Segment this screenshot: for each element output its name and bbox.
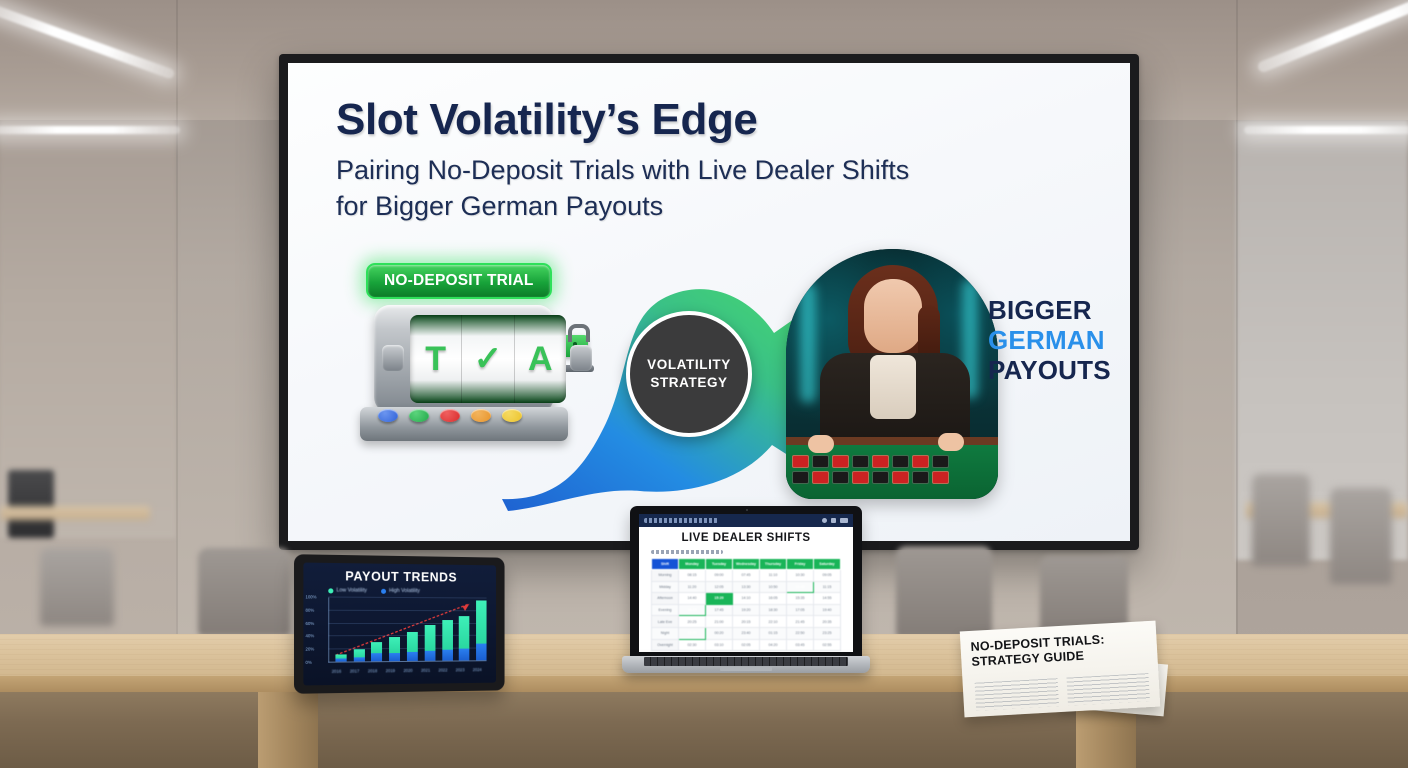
chart-legend: Low Volatility High Volatility — [328, 587, 420, 594]
background-chair — [40, 548, 114, 626]
subtitle-line-2: for Bigger German Payouts — [336, 189, 1106, 225]
felt-cell — [832, 455, 849, 468]
table-header-row: ShiftMondayTuesdayWednesdayThursdayFrida… — [652, 559, 841, 570]
legend-item: High Volatility — [381, 588, 420, 594]
bar-segment-low — [459, 649, 470, 660]
table-row[interactable]: Evening18:1017:4519:2018:3017:0519:40 — [652, 604, 841, 616]
bar-segment-high — [442, 620, 453, 650]
bar — [425, 625, 436, 661]
felt-cell — [792, 455, 809, 468]
bar-segment-low — [476, 644, 486, 660]
slot-reel-2: ✓ — [462, 315, 514, 403]
table-cell[interactable]: 01:15 — [760, 627, 787, 639]
table-cell[interactable]: 14:55 — [814, 593, 841, 605]
subtitle-line-1: Pairing No-Deposit Trials with Live Deal… — [336, 153, 1106, 189]
row-label: Late Eve — [652, 616, 679, 628]
table-cell[interactable]: 14:40 — [679, 593, 706, 605]
background-chair — [1252, 474, 1310, 566]
bar — [371, 642, 382, 661]
table-cell[interactable]: 23:40 — [733, 627, 760, 639]
strategy-guide-document[interactable]: NO-DEPOSIT TRIALS: STRATEGY GUIDE — [960, 621, 1160, 718]
legend-item: Low Volatility — [328, 587, 367, 593]
browser-toolbar[interactable] — [639, 514, 853, 527]
circle-line-2: STRATEGY — [650, 374, 727, 392]
table-cell[interactable]: 21:00 — [706, 616, 733, 628]
row-label: Night — [652, 627, 679, 639]
table-column-header: Wednesday — [733, 559, 760, 570]
bar — [407, 632, 418, 661]
bar — [335, 654, 346, 661]
table-cell[interactable]: 14:10 — [733, 593, 760, 605]
office-presentation-scene: Slot Volatility’s Edge Pairing No-Deposi… — [0, 0, 1408, 768]
table-column-header: Friday — [787, 559, 814, 570]
x-tick-label: 2016 — [327, 669, 345, 674]
circle-line-1: VOLATILITY — [647, 356, 731, 374]
felt-cell — [932, 455, 949, 468]
table-cell[interactable]: 20:35 — [814, 616, 841, 628]
table-cell[interactable]: 17:45 — [706, 604, 733, 616]
outcome-line-3: PAYOUTS — [988, 355, 1111, 385]
toolbar-icons — [822, 518, 848, 523]
laptop-keyboard[interactable] — [644, 657, 848, 666]
background-monitor — [8, 470, 54, 538]
table-cell[interactable]: 23:25 — [814, 627, 841, 639]
account-icon[interactable] — [822, 518, 827, 523]
volatility-strategy-badge: VOLATILITY STRATEGY — [626, 311, 752, 437]
table-body: Morning08:1509:0007:4511:1010:3009:05Mid… — [652, 570, 841, 651]
row-label: Afternoon — [652, 593, 679, 605]
felt-cell — [892, 455, 909, 468]
laptop-trackpad[interactable] — [720, 667, 772, 671]
felt-cell — [872, 471, 889, 484]
slot-reel-3: A — [515, 315, 566, 403]
document-column — [1066, 673, 1150, 706]
tablet-screen[interactable]: PAYOUT TRENDS Low Volatility High Volati… — [303, 563, 496, 686]
dealer-hand-right — [938, 433, 964, 451]
bar-segment-low — [335, 658, 346, 661]
table-row[interactable]: Morning08:1509:0007:4511:1010:3009:05 — [652, 570, 841, 582]
table-row[interactable]: Overnight02:3003:1002:0504:2003:4502:55 — [652, 639, 841, 651]
x-tick-label: 2021 — [417, 668, 435, 673]
ceiling-light-icon — [0, 126, 180, 134]
x-tick-label: 2019 — [381, 668, 399, 673]
bar — [459, 616, 470, 660]
x-tick-label: 2018 — [363, 668, 381, 673]
laptop-device[interactable]: LIVE DEALER SHIFTS ShiftMondayTuesdayWed… — [622, 506, 870, 702]
table-cell-highlighted[interactable]: 23:05 — [679, 627, 706, 639]
table-row[interactable]: Late Eve20:2521:0020:1522:1021:4520:35 — [652, 616, 841, 628]
page-subheading — [651, 550, 723, 554]
felt-cell — [812, 455, 829, 468]
felt-cell — [932, 471, 949, 484]
table-cell-highlighted[interactable]: 12:40 — [787, 581, 814, 593]
infographic: NO-DEPOSIT TRIAL T ✓ A — [288, 243, 1130, 523]
shift-schedule-table[interactable]: ShiftMondayTuesdayWednesdayThursdayFrida… — [651, 558, 841, 651]
table-cell[interactable]: 15:35 — [787, 593, 814, 605]
desk-leg-left — [258, 692, 318, 768]
y-tick-label: 60% — [305, 621, 314, 626]
row-label: Overnight — [652, 639, 679, 651]
felt-cell — [852, 471, 869, 484]
table-cell[interactable]: 09:05 — [814, 570, 841, 582]
bar-segment-low — [425, 651, 436, 661]
bar-segment-high — [459, 616, 470, 649]
live-dealer-photo — [786, 249, 998, 499]
slot-knob-left — [382, 345, 404, 371]
x-tick-label: 2024 — [469, 667, 486, 672]
felt-cell — [912, 455, 929, 468]
dealer-face — [864, 279, 922, 353]
slot-reel-window: T ✓ A — [410, 315, 566, 403]
felt-cell — [792, 471, 809, 484]
slot-reel-1: T — [410, 315, 462, 403]
outcome-line-2: GERMAN — [988, 325, 1111, 355]
table-cell[interactable]: 02:30 — [679, 639, 706, 651]
page-title: Slot Volatility’s Edge — [336, 95, 758, 145]
laptop-screen[interactable]: LIVE DEALER SHIFTS ShiftMondayTuesdayWed… — [639, 514, 853, 652]
menu-icon[interactable] — [840, 518, 848, 523]
table-cell[interactable]: 20:15 — [733, 616, 760, 628]
bar-segment-low — [353, 657, 364, 662]
table-cell[interactable]: 11:20 — [679, 581, 706, 593]
table-column-header: Thursday — [760, 559, 787, 570]
legend-swatch — [381, 588, 386, 593]
table-cell[interactable]: 08:15 — [679, 570, 706, 582]
wall-display[interactable]: Slot Volatility’s Edge Pairing No-Deposi… — [279, 54, 1139, 550]
chair-right — [896, 546, 992, 638]
table-cell[interactable]: 11:10 — [760, 570, 787, 582]
legend-label: High Volatility — [389, 588, 420, 594]
slot-body: T ✓ A — [374, 305, 554, 413]
x-tick-label: 2022 — [434, 667, 452, 672]
chart-title: PAYOUT TRENDS — [303, 569, 496, 585]
table-cell[interactable]: 18:30 — [760, 604, 787, 616]
table-cell[interactable]: 21:45 — [787, 616, 814, 628]
chair-left — [198, 548, 290, 636]
y-tick-label: 80% — [305, 607, 314, 612]
table-cell[interactable]: 22:10 — [760, 616, 787, 628]
felt-cell — [812, 471, 829, 484]
table-cell[interactable]: 04:20 — [760, 639, 787, 651]
table-cell[interactable]: 13:30 — [733, 581, 760, 593]
table-cell[interactable]: 12:05 — [706, 581, 733, 593]
table-cell[interactable]: 00:20 — [706, 627, 733, 639]
table-cell-highlighted[interactable]: 18:10 — [679, 604, 706, 616]
slot-button-green — [409, 409, 429, 422]
slot-button-blue — [378, 409, 398, 422]
table-cell[interactable]: 19:20 — [733, 604, 760, 616]
table-cell[interactable]: 17:05 — [787, 604, 814, 616]
bar-chart: 0%20%40%60%80%100%2016201720182019202020… — [328, 598, 486, 663]
row-label: Midday — [652, 581, 679, 593]
table-cell[interactable]: 22:50 — [787, 627, 814, 639]
document-column — [975, 678, 1059, 711]
row-label: Evening — [652, 604, 679, 616]
slot-button-red — [440, 409, 460, 422]
slot-button-row — [378, 409, 522, 422]
x-tick-label: 2023 — [451, 667, 468, 672]
table-cell[interactable]: 11:15 — [814, 581, 841, 593]
bar-segment-high — [407, 632, 418, 652]
legend-label: Low Volatility — [336, 587, 367, 593]
felt-cell — [852, 455, 869, 468]
table-cell[interactable]: 19:40 — [814, 604, 841, 616]
felt-cell — [872, 455, 889, 468]
table-cell[interactable]: 02:55 — [814, 639, 841, 651]
table-cell[interactable]: 10:50 — [760, 581, 787, 593]
document-body-columns — [975, 673, 1150, 711]
bar-segment-high — [425, 625, 436, 650]
slot-machine-icon: T ✓ A — [350, 305, 578, 445]
ceiling-light-icon — [1244, 126, 1408, 134]
bar — [476, 600, 486, 660]
table-cell[interactable]: 10:30 — [787, 570, 814, 582]
slide-subtitle: Pairing No-Deposit Trials with Live Deal… — [336, 153, 1106, 224]
y-tick-label: 0% — [305, 660, 311, 665]
bar-segment-low — [371, 653, 382, 661]
x-tick-label: 2020 — [399, 668, 417, 673]
slot-button-orange — [471, 409, 491, 422]
bar-segment-low — [442, 650, 453, 661]
table-cell[interactable]: 09:00 — [706, 570, 733, 582]
table-cell[interactable]: 03:10 — [706, 639, 733, 651]
status-badge: NO-DEPOSIT TRIAL — [366, 263, 552, 299]
bar-segment-high — [476, 600, 486, 644]
bar — [353, 649, 364, 661]
bar-segment-high — [353, 649, 364, 657]
table-cell[interactable]: 16:05 — [760, 593, 787, 605]
background-desk — [0, 506, 150, 520]
table-cell[interactable]: 20:25 — [679, 616, 706, 628]
slide-canvas: Slot Volatility’s Edge Pairing No-Deposi… — [288, 63, 1130, 541]
felt-cell — [832, 471, 849, 484]
dealer-glow — [800, 283, 816, 403]
address-bar[interactable] — [644, 518, 718, 523]
bar — [389, 637, 400, 661]
table-row[interactable]: Midday11:2012:0513:3010:5012:4011:15 — [652, 581, 841, 593]
dealer-shirt — [870, 355, 916, 419]
table-column-header: Tuesday — [706, 559, 733, 570]
felt-cell — [912, 471, 929, 484]
bar-segment-low — [407, 652, 418, 661]
legend-swatch — [328, 588, 333, 593]
webcam-icon — [746, 509, 748, 511]
slot-knob-right — [570, 345, 592, 371]
row-label: Morning — [652, 570, 679, 582]
slot-button-yellow — [502, 409, 522, 422]
bar-segment-high — [389, 637, 400, 654]
tablet-device[interactable]: PAYOUT TRENDS Low Volatility High Volati… — [294, 554, 505, 694]
table-column-header: Saturday — [814, 559, 841, 570]
shield-icon[interactable] — [831, 518, 836, 523]
table-cell[interactable]: 07:45 — [733, 570, 760, 582]
x-tick-label: 2017 — [345, 668, 363, 673]
bar-segment-high — [371, 642, 382, 654]
felt-cell — [892, 471, 909, 484]
table-cell[interactable]: 03:45 — [787, 639, 814, 651]
laptop-page-title: LIVE DEALER SHIFTS — [639, 532, 853, 544]
y-tick-label: 100% — [305, 594, 316, 599]
bar — [442, 620, 453, 661]
table-column-header: Shift — [652, 559, 679, 570]
document-headline: NO-DEPOSIT TRIALS: STRATEGY GUIDE — [970, 630, 1149, 669]
desk-underside — [0, 692, 1408, 768]
background-chair — [1330, 488, 1392, 584]
table-row[interactable]: Night23:0500:2023:4001:1522:5023:25 — [652, 627, 841, 639]
laptop-lid: LIVE DEALER SHIFTS ShiftMondayTuesdayWed… — [630, 506, 862, 658]
y-tick-label: 40% — [305, 634, 314, 639]
y-tick-label: 20% — [305, 647, 314, 652]
outcome-text: BIGGER GERMAN PAYOUTS — [988, 295, 1111, 385]
roulette-felt — [786, 445, 998, 499]
outcome-line-1: BIGGER — [988, 295, 1111, 325]
table-column-header: Monday — [679, 559, 706, 570]
dealer-hand-left — [808, 435, 834, 453]
table-row[interactable]: Afternoon14:4015:2014:1016:0515:3514:55 — [652, 593, 841, 605]
table-cell-highlighted[interactable]: 15:20 — [706, 593, 733, 605]
bar-segment-low — [389, 653, 400, 661]
table-cell[interactable]: 02:05 — [733, 639, 760, 651]
